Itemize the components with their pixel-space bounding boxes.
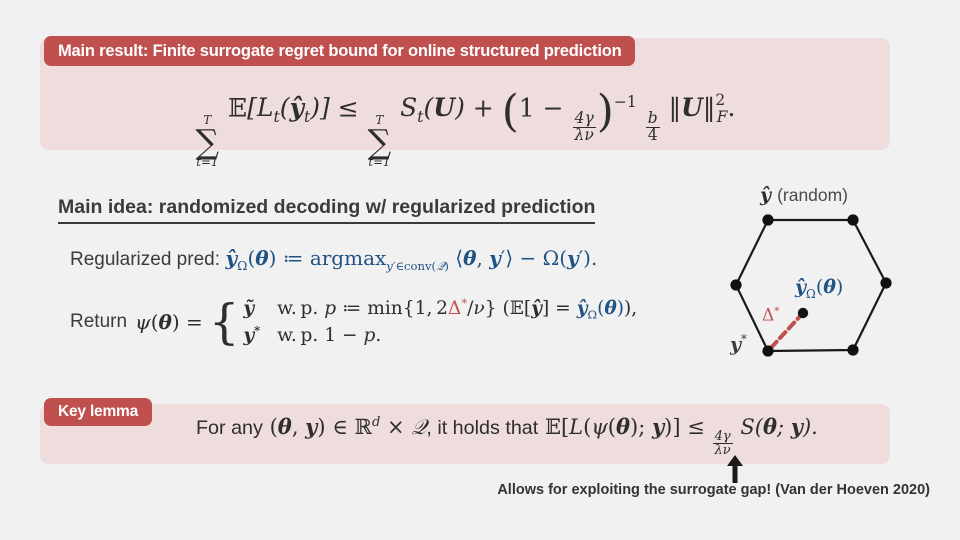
omega-regularizer-term: Ω(y′). (543, 246, 598, 270)
minus-sign-regpred: − (520, 246, 537, 270)
leq-sign-main: ≤ (338, 93, 359, 122)
minus-sign-main: − (543, 93, 564, 122)
lemma-expectation-term: 𝔼[L(ψ(θ); y)] (545, 415, 681, 439)
regularized-prediction-label: Regularized pred: (70, 249, 220, 270)
main-idea-heading: Main idea: randomized decoding w/ regula… (58, 196, 595, 224)
inner-product-term: ⟨θ, y′⟩ (455, 246, 513, 270)
norm-exponent: 2 (715, 91, 725, 109)
sum-lower-limit-right: t=1 (368, 157, 390, 168)
case-row-optimum: y* w. p. 1 − p. (243, 323, 637, 349)
cases-block: ỹ w. p. p ≔ min{1, 2Δ*/ν} (𝔼[ŷ] = ŷΩ(θ))… (243, 296, 637, 349)
gap-dashed-line (769, 313, 803, 350)
vertex-dot (847, 344, 858, 355)
main-result-formula: T ∑ t=1 𝔼[Lt(ŷt)] ≤ T ∑ t=1 St(U) + (1 −… (40, 86, 890, 169)
lemma-fraction: 4γ λν (713, 430, 733, 458)
vertex-dot (762, 345, 773, 356)
main-result-badge-label: Main result: Finite surrogate regret bou… (58, 42, 621, 61)
psi-theta-term: ψ(θ) = (135, 310, 203, 334)
argmax-subscript: y′∈conv(𝒬) (386, 259, 449, 273)
case1-value: ỹ (243, 297, 271, 322)
sum-lower-limit-left: t=1 (196, 157, 218, 168)
argmax-operator: argmax (310, 246, 386, 270)
gamma-over-lambda-nu-fraction: 4γ λν (573, 111, 596, 144)
expectation-symbol-left: 𝔼 (228, 93, 247, 122)
inverse-exponent: −1 (614, 93, 637, 111)
norm-subscript: F (717, 108, 728, 126)
delta-star-symbol: Δ* (448, 298, 467, 319)
fraction-numerator: 4γ (573, 111, 596, 127)
real-space-term: ℝd (355, 415, 381, 439)
omega-subscript: Ω (237, 258, 247, 273)
case2-value: y* (243, 323, 271, 349)
defined-as-sign: ≔ (283, 246, 304, 270)
sum-operator-left: T ∑ t=1 (196, 115, 220, 169)
main-result-badge: Main result: Finite surrogate regret bou… (44, 36, 635, 66)
sigma-icon-right: ∑ (368, 126, 392, 157)
element-of-sign: ∈ (332, 415, 348, 439)
interior-prediction-dot (798, 308, 808, 318)
b-over-4-fraction: b 4 (646, 111, 660, 144)
lemma-text-it-holds: , it holds that (426, 417, 538, 439)
b-numerator: b (646, 111, 660, 127)
output-space-symbol: 𝒬 (411, 415, 426, 439)
plus-sign-main: + (473, 93, 494, 122)
up-arrow-icon (726, 455, 744, 483)
key-lemma-badge-label: Key lemma (58, 403, 138, 421)
frobenius-norm-term: ‖U‖2F. (669, 93, 736, 122)
cases-brace: { (209, 303, 240, 342)
bottom-caption: Allows for exploiting the surrogate gap!… (0, 482, 930, 498)
lemma-fraction-numerator: 4γ (713, 430, 733, 443)
regularized-prediction-formula: ŷΩ(θ) ≔ argmaxy′∈conv(𝒬) ⟨θ, y′⟩ − Ω(y′)… (226, 246, 598, 270)
sum-operator-right: T ∑ t=1 (368, 115, 392, 169)
fraction-denominator: λν (573, 127, 596, 144)
regularized-prediction-line: Regularized pred: ŷΩ(θ) ≔ argmaxy′∈conv(… (70, 246, 597, 274)
key-lemma-badge: Key lemma (44, 398, 152, 426)
return-label: Return (70, 311, 127, 333)
right-paren-big: ) (597, 86, 614, 137)
return-line: Return ψ(θ) = { ỹ w. p. p ≔ min{1, 2Δ*/ν… (70, 296, 637, 349)
polytope-hexagon-diagram (716, 182, 960, 372)
times-sign: × (387, 415, 405, 439)
hexagon-shape (736, 220, 886, 351)
lemma-surrogate-term: S(θ; y). (740, 415, 817, 439)
leq-sign-lemma: ≤ (687, 415, 705, 439)
vertex-dot (762, 214, 773, 225)
lemma-text-for-any: For any (196, 417, 263, 439)
key-lemma-formula: For any (θ, y) ∈ ℝd × 𝒬, it holds that 𝔼… (196, 414, 818, 457)
surrogate-term: St(U) (400, 93, 465, 122)
slide-canvas: Main result: Finite surrogate regret bou… (0, 0, 960, 540)
left-paren-big: ( (502, 86, 519, 137)
four-denominator: 4 (646, 127, 660, 144)
lemma-pair-term: (θ, y) (270, 415, 326, 439)
sigma-icon-left: ∑ (196, 126, 220, 157)
vertex-dot (880, 277, 891, 288)
vertex-dot (730, 279, 741, 290)
vertex-dot (847, 214, 858, 225)
case-row-random: ỹ w. p. p ≔ min{1, 2Δ*/ν} (𝔼[ŷ] = ŷΩ(θ))… (243, 296, 637, 323)
